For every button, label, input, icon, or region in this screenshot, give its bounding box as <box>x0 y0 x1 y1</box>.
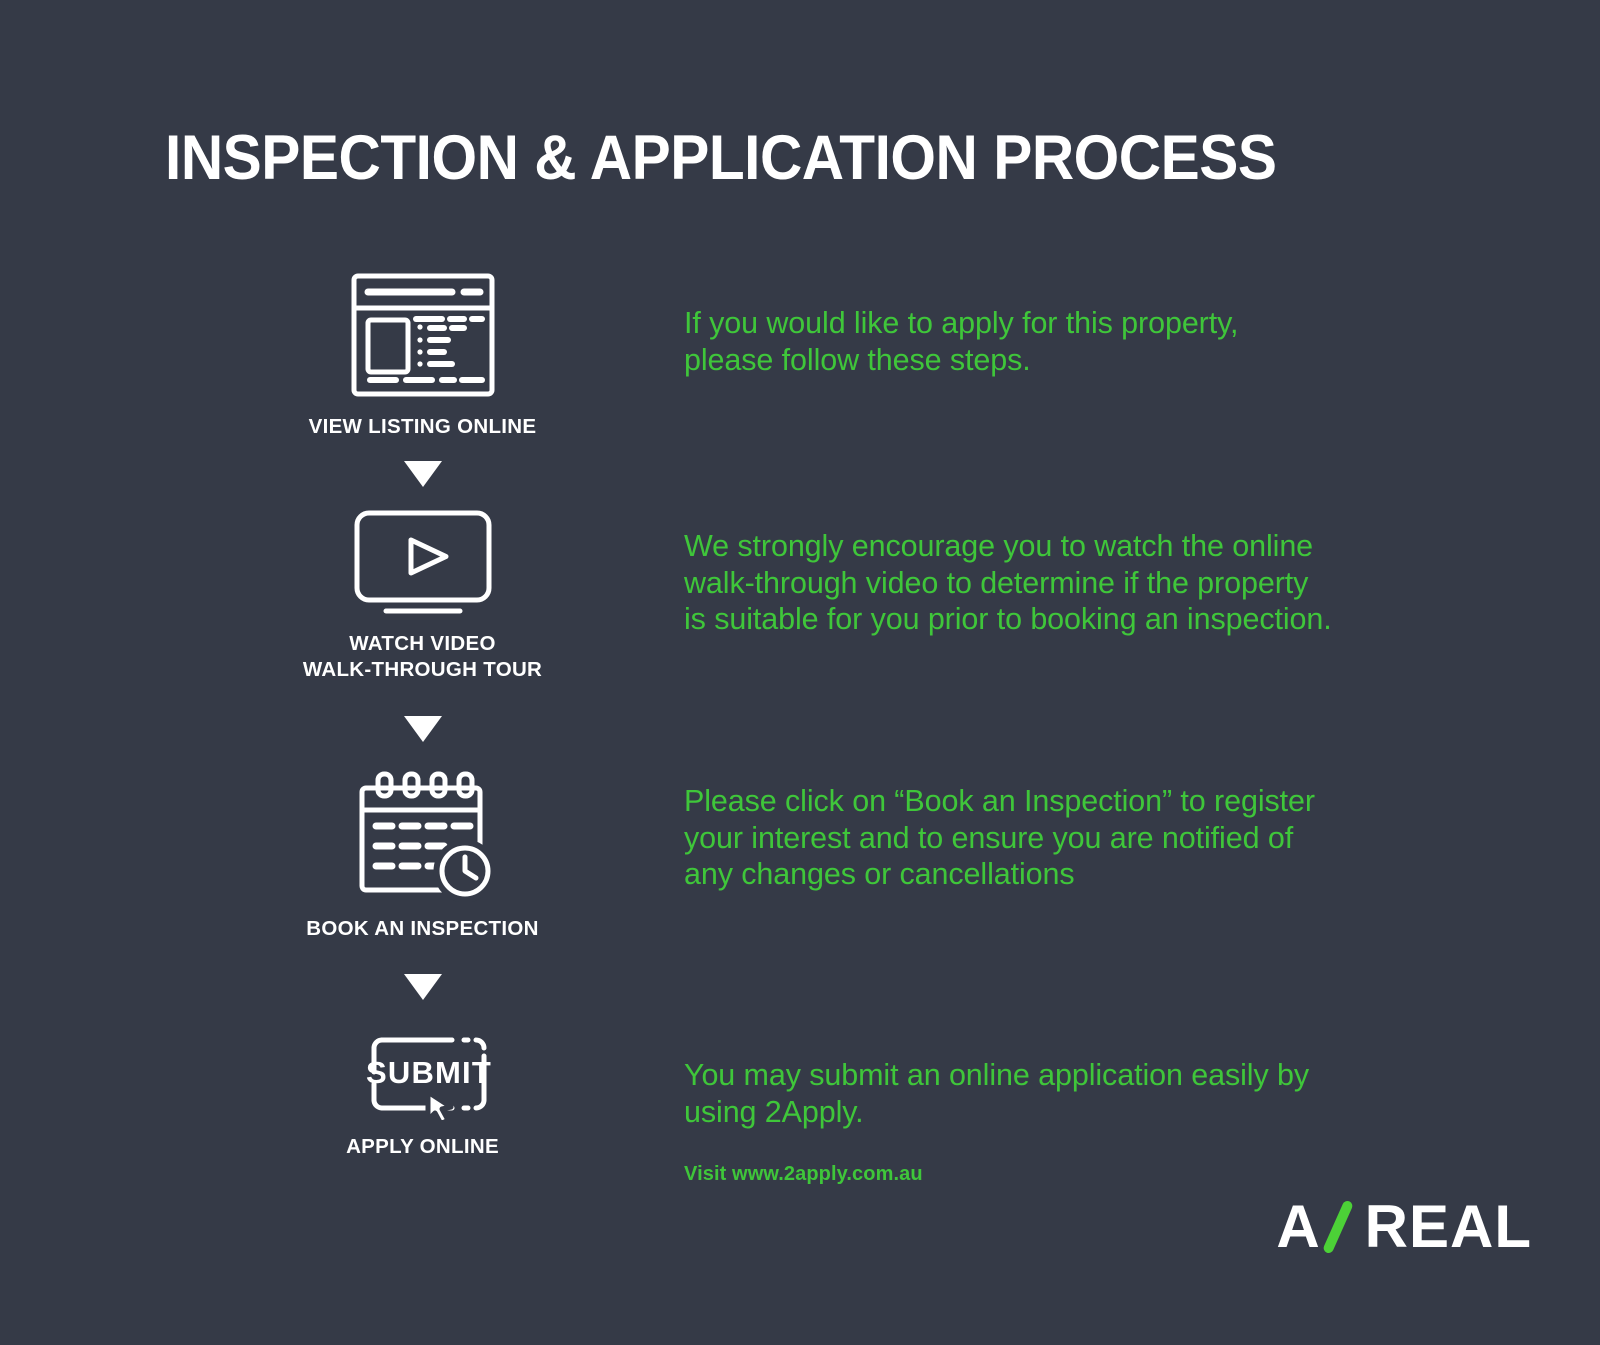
copy-step-2: We strongly encourage you to watch the o… <box>684 528 1332 638</box>
listing-window-icon <box>348 270 498 400</box>
logo-word-real: REAL <box>1365 1197 1532 1257</box>
flow-step-apply-online: SUBMIT APPLY ONLINE <box>280 1020 565 1160</box>
flow-step-label: BOOK AN INSPECTION <box>306 916 538 942</box>
svg-text:SUBMIT: SUBMIT <box>365 1055 491 1090</box>
flow-step-label: APPLY ONLINE <box>346 1134 499 1160</box>
calendar-clock-icon <box>348 762 498 902</box>
flow-step-watch-video: WATCH VIDEO WALK-THROUGH TOUR <box>280 507 565 683</box>
brand-logo: A REAL <box>1276 1196 1532 1258</box>
copy-step-4: You may submit an online application eas… <box>684 1057 1309 1130</box>
flow-step-book-inspection: BOOK AN INSPECTION <box>280 762 565 942</box>
arrow-down-triangle-icon <box>280 974 565 1000</box>
visit-website-link[interactable]: Visit www.2apply.com.au <box>684 1163 923 1186</box>
video-player-icon <box>348 507 498 617</box>
page-title: INSPECTION & APPLICATION PROCESS <box>165 122 1276 194</box>
arrow-down-triangle-icon <box>280 716 565 742</box>
flow-step-view-listing: VIEW LISTING ONLINE <box>280 270 565 440</box>
flow-step-label: WATCH VIDEO WALK-THROUGH TOUR <box>303 631 542 683</box>
process-flow: VIEW LISTING ONLINE WATCH VIDEO WALK-THR… <box>280 270 565 1160</box>
logo-letter-a: A <box>1276 1197 1320 1257</box>
green-slash-icon <box>1323 1198 1353 1256</box>
submit-button-cursor-icon: SUBMIT <box>348 1020 498 1120</box>
arrow-down-triangle-icon <box>280 461 565 487</box>
flow-step-label: VIEW LISTING ONLINE <box>309 414 537 440</box>
copy-step-3: Please click on “Book an Inspection” to … <box>684 783 1315 893</box>
copy-step-1: If you would like to apply for this prop… <box>684 305 1238 378</box>
